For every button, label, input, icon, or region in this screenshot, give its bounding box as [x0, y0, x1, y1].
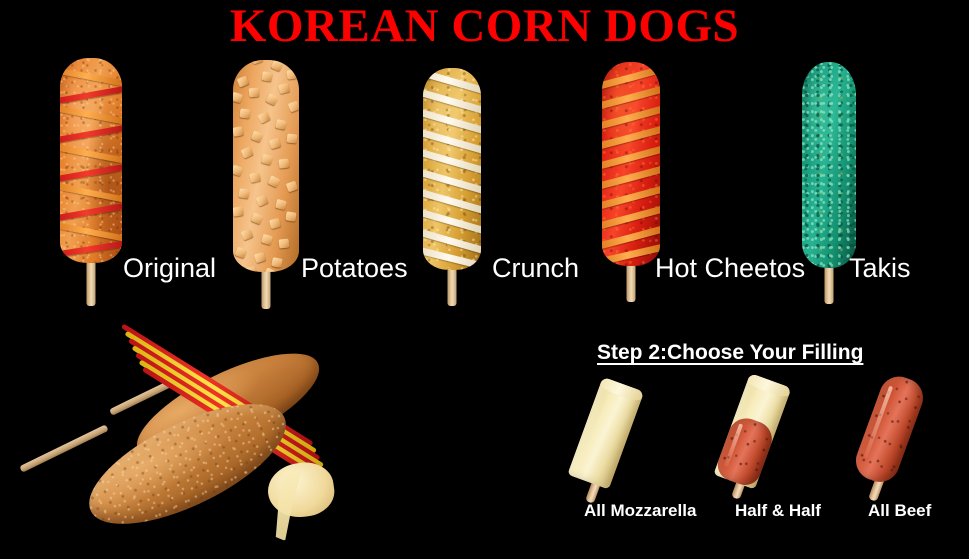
flavor-item-potatoes[interactable]	[233, 60, 299, 288]
corn-dog-hot-cheetos-icon	[602, 62, 660, 266]
filling-option-all-beef[interactable]	[843, 372, 963, 496]
flavor-label-potatoes: Potatoes	[301, 255, 408, 282]
half-and-half-icon	[713, 373, 791, 490]
step2-heading: Step 2:Choose Your Filling	[597, 341, 863, 365]
flavor-label-original: Original	[123, 255, 216, 282]
corn-dog-potatoes-icon	[233, 60, 299, 272]
poster-canvas: KOREAN CORN DOGS Original	[0, 0, 969, 538]
corn-dog-cheese-pull-photo	[20, 345, 330, 535]
skewer-icon	[19, 424, 108, 472]
flavor-item-takis[interactable]	[802, 62, 856, 288]
corn-dog-original-icon	[60, 58, 122, 263]
flavor-item-crunch[interactable]	[423, 68, 481, 288]
corn-dog-stick-icon	[448, 264, 457, 306]
mozzarella-stick-icon	[567, 377, 644, 490]
filling-label-all-beef: All Beef	[868, 501, 931, 521]
flavor-label-crunch: Crunch	[492, 255, 579, 282]
flavor-label-takis: Takis	[849, 255, 911, 282]
corn-dog-takis-icon	[802, 62, 856, 268]
corn-dog-stick-icon	[627, 260, 636, 302]
flavor-label-hot-cheetos: Hot Cheetos	[655, 255, 805, 282]
filling-option-all-mozzarella[interactable]	[560, 378, 680, 498]
beef-sausage-icon	[850, 371, 928, 488]
flavor-item-hot-cheetos[interactable]	[602, 62, 660, 288]
potato-cubes	[233, 60, 299, 272]
flavor-item-original[interactable]	[60, 58, 122, 286]
filling-label-all-mozzarella: All Mozzarella	[584, 501, 696, 521]
page-title: KOREAN CORN DOGS	[0, 2, 969, 51]
filling-label-half-and-half: Half & Half	[735, 501, 821, 521]
filling-option-half-and-half[interactable]	[706, 374, 826, 498]
melted-cheese-icon	[265, 459, 338, 522]
corn-dog-crunch-icon	[423, 68, 481, 270]
